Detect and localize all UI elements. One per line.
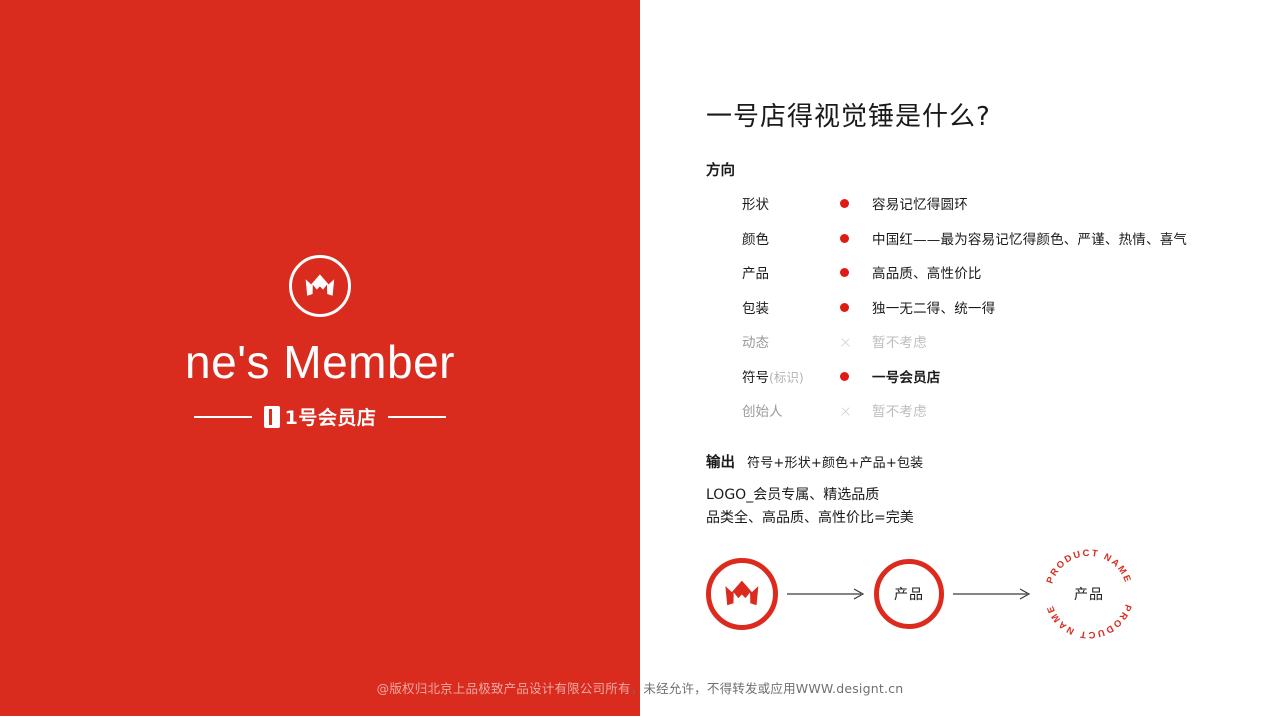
row-label: 颜色 — [742, 233, 840, 248]
stamp-center-label: 产品 — [1074, 584, 1104, 604]
output-line-1: LOGO_会员专属、精选品质 — [706, 484, 1226, 507]
row-label: 符号(标识) — [742, 371, 840, 386]
output-formula-row: 输出 符号+形状+颜色+产品+包装 — [706, 451, 1226, 472]
list-item: 动态 暂不考虑 — [742, 336, 1262, 371]
row-label: 形状 — [742, 198, 840, 213]
marker-dot — [840, 233, 872, 243]
divider-right — [388, 416, 446, 418]
row-value: 中国红——最为容易记忆得颜色、严谨、热情、喜气 — [872, 233, 1187, 249]
flow-node-product-label: 产品 — [894, 584, 924, 604]
flow-node-stamp: PRODUCT NAME PRODUCT NAME 产品 — [1040, 545, 1138, 643]
section-label-direction: 方向 — [706, 159, 735, 180]
red-dot-icon — [840, 268, 849, 277]
crown-in-circle-icon — [289, 255, 351, 317]
sub-logo: 1号会员店 — [264, 403, 377, 430]
flow-node-logo — [706, 558, 778, 630]
list-item: 符号(标识) 一号会员店 — [742, 371, 1262, 406]
row-value: 暂不考虑 — [872, 405, 927, 421]
row-value: 高品质、高性价比 — [872, 267, 982, 283]
cross-icon — [840, 406, 851, 417]
brand-name: ne's Member — [185, 339, 455, 385]
cross-icon — [840, 337, 851, 348]
red-dot-icon — [840, 234, 849, 243]
row-label: 产品 — [742, 267, 840, 282]
content-panel: 一号店得视觉锤是什么? 方向 形状 容易记忆得圆环 颜色 中国红——最为容易记忆… — [706, 0, 1266, 720]
red-dot-icon — [840, 303, 849, 312]
marker-dot — [840, 267, 872, 277]
list-item: 创始人 暂不考虑 — [742, 405, 1262, 440]
divider-left — [194, 416, 252, 418]
brand-panel: ne's Member 1号会员店 — [0, 0, 640, 716]
row-value: 一号会员店 — [872, 371, 941, 387]
output-key: 输出 — [706, 451, 735, 472]
output-block: 输出 符号+形状+颜色+产品+包装 LOGO_会员专属、精选品质 品类全、高品质… — [706, 451, 1226, 529]
arrow-right-icon — [944, 587, 1040, 601]
output-formula: 符号+形状+颜色+产品+包装 — [747, 452, 923, 471]
row-value: 容易记忆得圆环 — [872, 198, 968, 214]
brand-lockup: ne's Member 1号会员店 — [0, 255, 640, 430]
output-lines: LOGO_会员专属、精选品质 品类全、高品质、高性价比=完美 — [706, 484, 1226, 529]
marker-dot — [840, 198, 872, 208]
row-value: 独一无二得、统一得 — [872, 302, 995, 318]
flow-diagram: 产品 PRODUCT NAME PRODUCT NAME 产品 — [706, 546, 1246, 642]
row-label: 创始人 — [742, 405, 840, 420]
row-value: 暂不考虑 — [872, 336, 927, 352]
slide-root: ne's Member 1号会员店 一号店得视觉锤是什么? 方向 形状 容易记忆… — [0, 0, 1280, 720]
red-dot-icon — [840, 372, 849, 381]
output-line-2: 品类全、高品质、高性价比=完美 — [706, 507, 1226, 530]
list-item: 产品 高品质、高性价比 — [742, 267, 1262, 302]
marker-dot — [840, 302, 872, 312]
row-label: 包装 — [742, 302, 840, 317]
number-one-badge-icon — [264, 406, 280, 428]
list-item: 颜色 中国红——最为容易记忆得颜色、严谨、热情、喜气 — [742, 233, 1262, 268]
stamp-top-text: PRODUCT NAME — [1044, 547, 1135, 585]
marker-cross — [840, 336, 872, 348]
brand-sub-row: 1号会员店 — [194, 403, 447, 430]
flow-node-product: 产品 — [874, 559, 944, 629]
marker-dot — [840, 371, 872, 381]
arrow-right-icon — [778, 587, 874, 601]
row-label: 动态 — [742, 336, 840, 351]
marker-cross — [840, 405, 872, 417]
page-title: 一号店得视觉锤是什么? — [706, 96, 991, 133]
attribute-list: 形状 容易记忆得圆环 颜色 中国红——最为容易记忆得颜色、严谨、热情、喜气 产品… — [742, 198, 1262, 440]
brand-sub-text: 1号会员店 — [285, 403, 377, 430]
list-item: 包装 独一无二得、统一得 — [742, 302, 1262, 337]
stamp-bottom-text: PRODUCT NAME — [1044, 603, 1135, 641]
crown-in-circle-icon — [722, 579, 762, 609]
red-dot-icon — [840, 199, 849, 208]
list-item: 形状 容易记忆得圆环 — [742, 198, 1262, 233]
